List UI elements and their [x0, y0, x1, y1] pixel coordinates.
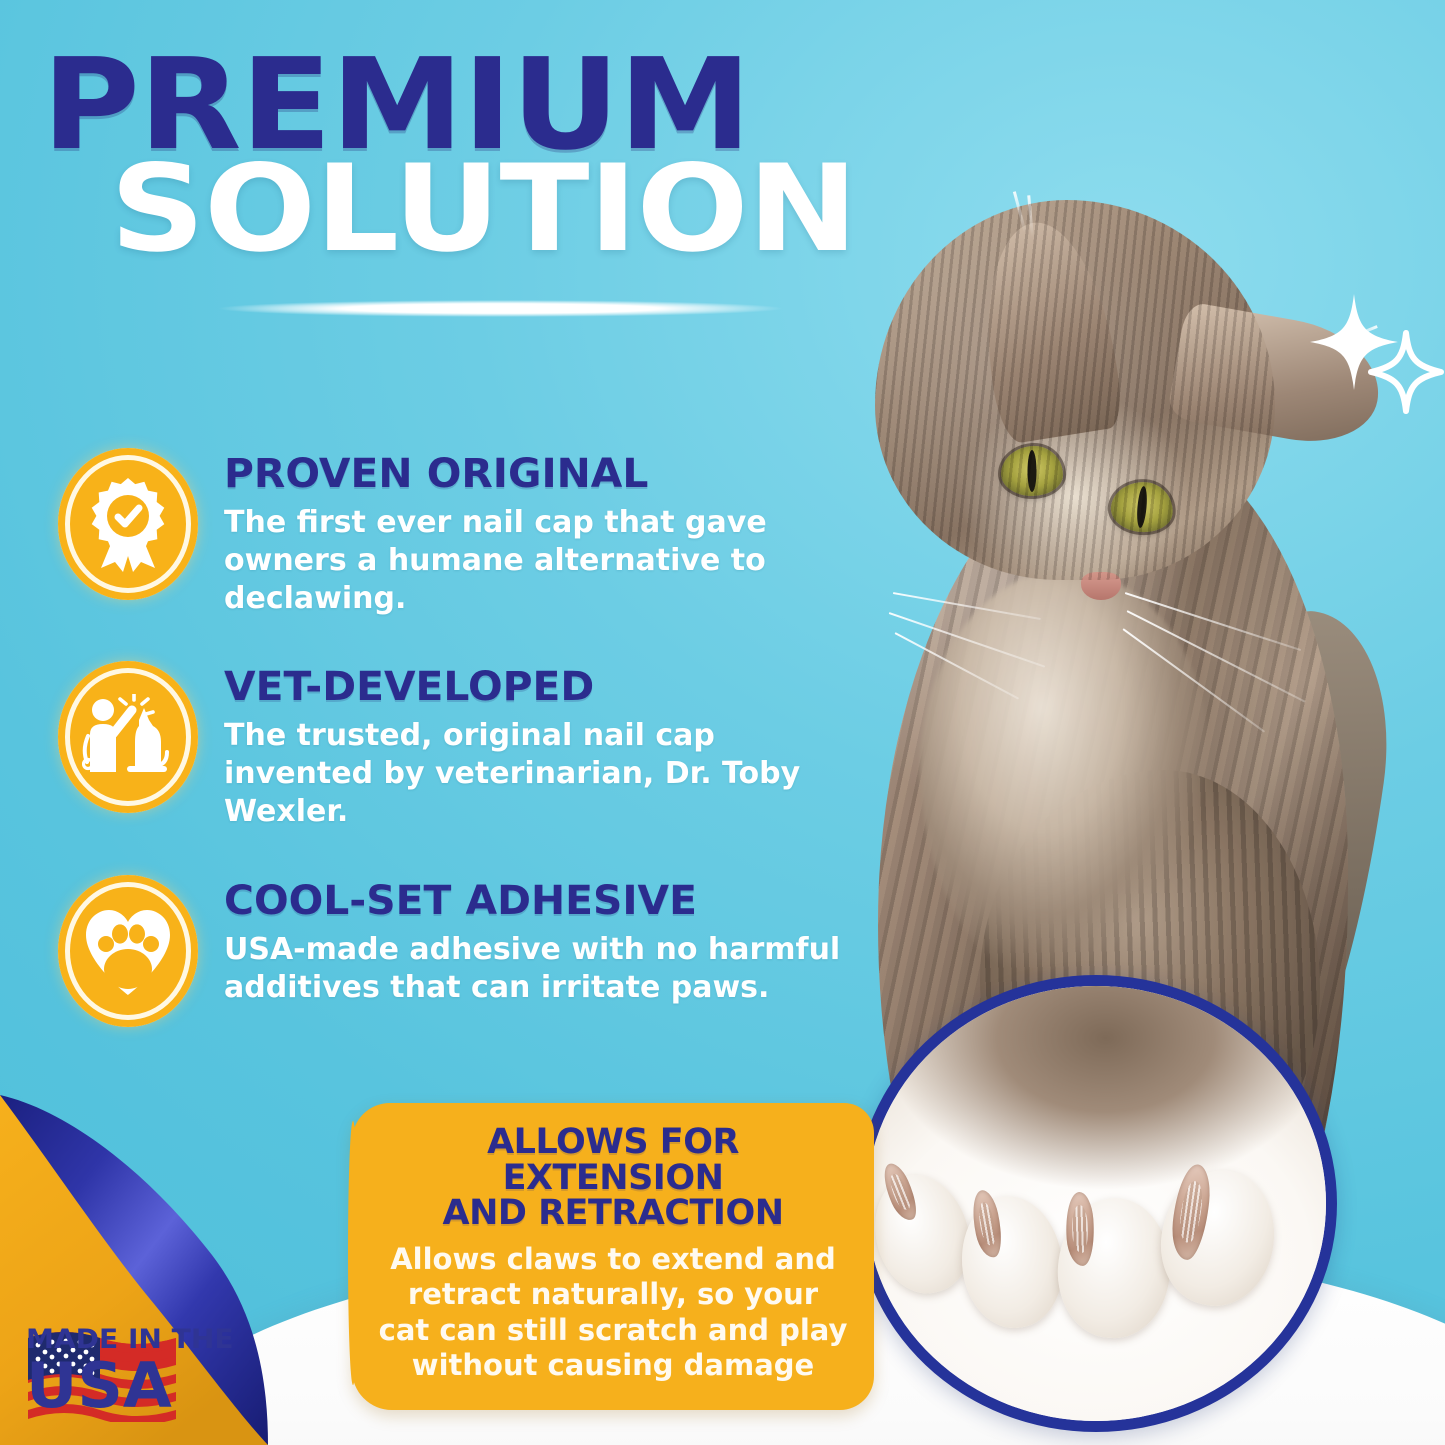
cat-ear-left	[969, 214, 1126, 446]
headline-divider	[218, 300, 783, 317]
feature-body: USA-made adhesive with no harmful additi…	[224, 931, 848, 1007]
feature-list: PROVEN ORIGINAL The first ever nail cap …	[58, 448, 848, 1071]
made-in-usa-badge: MADE IN THE USA	[26, 1326, 236, 1417]
product-feature-graphic: PREMIUM SOLUTION PROVEN ORIGINAL The fir…	[0, 0, 1445, 1445]
feature-item-proven-original: PROVEN ORIGINAL The first ever nail cap …	[58, 448, 848, 617]
award-ribbon-check-icon	[58, 448, 198, 600]
feature-text: VET-DEVELOPED The trusted, original nail…	[224, 661, 848, 830]
feature-item-vet-developed: VET-DEVELOPED The trusted, original nail…	[58, 661, 848, 830]
feature-title: COOL-SET ADHESIVE	[224, 881, 860, 921]
paw-photo	[855, 975, 1337, 1432]
feature-text: PROVEN ORIGINAL The first ever nail cap …	[224, 448, 848, 617]
callout-title-line1: ALLOWS FOR EXTENSION	[487, 1122, 739, 1198]
feature-title: VET-DEVELOPED	[224, 667, 860, 707]
callout-title-line2: AND RETRACTION	[442, 1193, 783, 1233]
cat-eye-left	[1001, 446, 1063, 496]
cat-paw-closeup-inset	[855, 975, 1337, 1432]
cat-head	[875, 200, 1275, 580]
sparkle-small	[1368, 330, 1444, 414]
feature-title: PROVEN ORIGINAL	[224, 454, 860, 494]
vet-high-five-cat-icon	[58, 661, 198, 813]
heart-paw-icon	[58, 875, 198, 1027]
feature-body: The trusted, original nail cap invented …	[224, 717, 848, 830]
usa-label: USA	[26, 1355, 240, 1417]
feature-text: COOL-SET ADHESIVE USA-made adhesive with…	[224, 875, 848, 1007]
feature-item-cool-set-adhesive: COOL-SET ADHESIVE USA-made adhesive with…	[58, 875, 848, 1027]
cat-eye-right	[1109, 479, 1175, 534]
headline-block: PREMIUM SOLUTION	[42, 50, 832, 262]
headline-line-solution: SOLUTION	[110, 157, 904, 263]
callout-body: Allows claws to extend and retract natur…	[378, 1242, 848, 1384]
feature-body: The first ever nail cap that gave owners…	[224, 504, 848, 617]
extension-retraction-callout: ALLOWS FOR EXTENSION AND RETRACTION Allo…	[352, 1103, 874, 1410]
page-peel-corner: MADE IN THE USA	[0, 1055, 430, 1445]
callout-title: ALLOWS FOR EXTENSION AND RETRACTION	[378, 1125, 848, 1232]
